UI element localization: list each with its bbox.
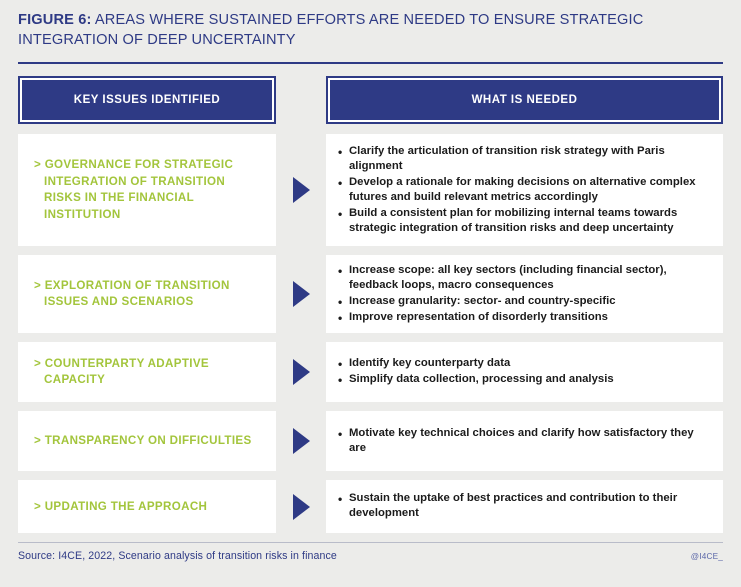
table-row: > TRANSPARENCY ON DIFFICULTIES Motivate … — [18, 411, 723, 471]
needs-cell: Sustain the uptake of best practices and… — [326, 480, 723, 533]
needs-list: Sustain the uptake of best practices and… — [336, 491, 709, 522]
list-item: Increase scope: all key sectors (includi… — [349, 263, 709, 293]
needs-cell: Identify key counterparty data Simplify … — [326, 342, 723, 402]
source-note: Source: I4CE, 2022, Scenario analysis of… — [18, 550, 337, 562]
arrow-right-icon — [293, 428, 310, 454]
issue-cell: > EXPLORATION OF TRANSITION ISSUES AND S… — [18, 255, 276, 333]
arrow-right-icon — [293, 177, 310, 203]
arrow-cell — [276, 134, 326, 246]
organization-handle: @I4CE_ — [691, 552, 723, 561]
needs-list: Clarify the articulation of transition r… — [336, 144, 709, 238]
needs-cell: Motivate key technical choices and clari… — [326, 411, 723, 471]
arrow-cell — [276, 255, 326, 333]
issue-label: > GOVERNANCE FOR STRATEGIC INTEGRATION O… — [34, 157, 264, 223]
issue-cell: > COUNTERPARTY ADAPTIVE CAPACITY — [18, 342, 276, 402]
list-item: Identify key counterparty data — [349, 356, 614, 371]
list-item: Build a consistent plan for mobilizing i… — [349, 206, 709, 236]
issue-label: > COUNTERPARTY ADAPTIVE CAPACITY — [34, 356, 264, 389]
issue-label: > EXPLORATION OF TRANSITION ISSUES AND S… — [34, 278, 264, 311]
table-row: > GOVERNANCE FOR STRATEGIC INTEGRATION O… — [18, 134, 723, 246]
needs-cell: Clarify the articulation of transition r… — [326, 134, 723, 246]
list-item: Sustain the uptake of best practices and… — [349, 491, 709, 521]
matrix-rows: > GOVERNANCE FOR STRATEGIC INTEGRATION O… — [18, 134, 723, 533]
table-row: > EXPLORATION OF TRANSITION ISSUES AND S… — [18, 255, 723, 333]
header-key-issues-label: KEY ISSUES IDENTIFIED — [74, 93, 220, 108]
arrow-cell — [276, 411, 326, 471]
list-item: Simplify data collection, processing and… — [349, 372, 614, 387]
issue-cell: > TRANSPARENCY ON DIFFICULTIES — [18, 411, 276, 471]
arrow-right-icon — [293, 494, 310, 520]
figure-title-block: FIGURE 6: AREAS WHERE SUSTAINED EFFORTS … — [18, 0, 723, 50]
title-divider — [18, 62, 723, 64]
arrow-cell — [276, 480, 326, 533]
header-what-is-needed-label: WHAT IS NEEDED — [472, 93, 578, 108]
figure-footer: Source: I4CE, 2022, Scenario analysis of… — [18, 543, 723, 562]
figure-title-text: AREAS WHERE SUSTAINED EFFORTS ARE NEEDED… — [18, 12, 643, 48]
needs-list: Identify key counterparty data Simplify … — [336, 356, 614, 388]
issue-cell: > GOVERNANCE FOR STRATEGIC INTEGRATION O… — [18, 134, 276, 246]
column-headers: KEY ISSUES IDENTIFIED WHAT IS NEEDED — [18, 76, 723, 124]
header-what-is-needed: WHAT IS NEEDED — [326, 76, 723, 124]
list-item: Motivate key technical choices and clari… — [349, 426, 709, 456]
arrow-right-icon — [293, 359, 310, 385]
list-item: Increase granularity: sector- and countr… — [349, 294, 709, 309]
arrow-right-icon — [293, 281, 310, 307]
page-title: FIGURE 6: AREAS WHERE SUSTAINED EFFORTS … — [18, 11, 723, 50]
needs-list: Increase scope: all key sectors (includi… — [336, 263, 709, 327]
table-row: > COUNTERPARTY ADAPTIVE CAPACITY Identif… — [18, 342, 723, 402]
figure-number-label: FIGURE 6: — [18, 12, 92, 28]
arrow-cell — [276, 342, 326, 402]
issue-label: > UPDATING THE APPROACH — [34, 499, 207, 515]
issue-cell: > UPDATING THE APPROACH — [18, 480, 276, 533]
header-spacer — [276, 76, 326, 124]
table-row: > UPDATING THE APPROACH Sustain the upta… — [18, 480, 723, 533]
issue-label: > TRANSPARENCY ON DIFFICULTIES — [34, 433, 252, 449]
list-item: Improve representation of disorderly tra… — [349, 310, 709, 325]
figure-container: FIGURE 6: AREAS WHERE SUSTAINED EFFORTS … — [0, 0, 741, 587]
list-item: Clarify the articulation of transition r… — [349, 144, 709, 174]
list-item: Develop a rationale for making decisions… — [349, 175, 709, 205]
needs-cell: Increase scope: all key sectors (includi… — [326, 255, 723, 333]
header-key-issues: KEY ISSUES IDENTIFIED — [18, 76, 276, 124]
needs-list: Motivate key technical choices and clari… — [336, 426, 709, 457]
